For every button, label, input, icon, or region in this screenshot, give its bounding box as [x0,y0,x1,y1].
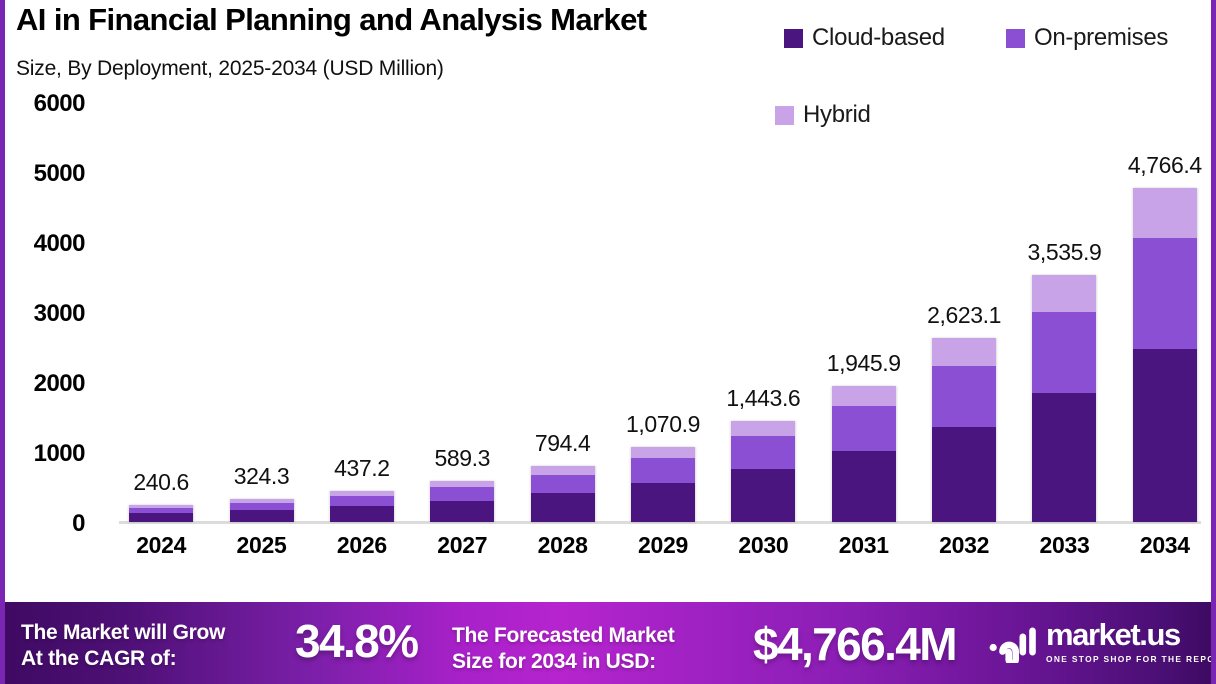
footer-banner: The Market will Grow At the CAGR of: 34.… [5,602,1211,684]
bar-stack[interactable]: 3,535.9 [1032,275,1096,523]
bar-total-label: 794.4 [535,430,591,457]
bar-segment-on-premises[interactable] [731,436,795,469]
x-axis-tick-label: 2025 [237,532,287,559]
x-axis-tick-label: 2027 [437,532,487,559]
x-axis-tick-label: 2031 [839,532,889,559]
y-axis-tick-label: 1000 [34,440,85,468]
bar-stack[interactable]: 1,945.9 [832,386,896,522]
bar-stack[interactable]: 4,766.4 [1133,188,1197,522]
bar-segment-hybrid[interactable] [832,386,896,406]
plot-area: 0100020003000400050006000 240.62024324.3… [5,104,1211,542]
bar-total-label: 240.6 [133,469,189,496]
x-axis-tick-label: 2034 [1140,532,1190,559]
bars-container: 240.62024324.32025437.22026589.32027794.… [97,104,1201,524]
legend-label: Cloud-based [812,24,945,52]
bar-total-label: 437.2 [334,455,390,482]
cagr-label: The Market will Grow At the CAGR of: [21,620,225,671]
brand-text: market.us ONE STOP SHOP FOR THE REPORTS [1046,619,1211,664]
y-axis-tick-label: 3000 [34,300,85,328]
bar-segment-hybrid[interactable] [932,338,996,366]
x-axis-tick-label: 2033 [1039,532,1089,559]
legend-label: On-premises [1034,24,1168,52]
market-us-wave-icon [989,621,1037,663]
bar-stack[interactable]: 240.6 [129,505,193,522]
bar-segment-cloud-based[interactable] [330,506,394,522]
y-axis-tick-label: 5000 [34,160,85,188]
bar-stack[interactable]: 589.3 [430,481,494,522]
forecast-size-label: The Forecasted Market Size for 2034 in U… [452,623,674,674]
bar-segment-cloud-based[interactable] [531,493,595,522]
bar-segment-cloud-based[interactable] [1133,349,1197,522]
forecast-size-label-line2: Size for 2034 in USD: [452,649,674,675]
y-axis-tick-label: 4000 [34,230,85,258]
chart-subtitle: Size, By Deployment, 2025-2034 (USD Mill… [16,57,444,81]
legend-swatch-icon [1006,29,1025,48]
bar-segment-cloud-based[interactable] [631,483,695,522]
bar-segment-on-premises[interactable] [330,496,394,506]
bar-segment-cloud-based[interactable] [129,513,193,522]
bar-segment-hybrid[interactable] [531,466,595,474]
x-axis-tick-label: 2030 [738,532,788,559]
chart-infographic: AI in Financial Planning and Analysis Ma… [0,0,1216,684]
bar-total-label: 3,535.9 [1027,239,1101,266]
x-axis-tick-label: 2028 [538,532,588,559]
bar-total-label: 324.3 [234,463,290,490]
legend-item-on-premises[interactable]: On-premises [1006,24,1168,52]
x-axis-tick-label: 2032 [939,532,989,559]
bar-segment-cloud-based[interactable] [430,501,494,522]
bar-segment-cloud-based[interactable] [230,510,294,522]
legend-item-cloud-based[interactable]: Cloud-based [784,24,945,52]
bar-segment-cloud-based[interactable] [731,469,795,522]
bar-stack[interactable]: 324.3 [230,499,294,522]
bar-stack[interactable]: 437.2 [330,491,394,522]
forecast-size-value: $4,766.4M [753,617,956,671]
page-title: AI in Financial Planning and Analysis Ma… [16,2,647,38]
bar-segment-on-premises[interactable] [430,487,494,501]
cagr-label-line1: The Market will Grow [21,621,225,644]
bar-segment-hybrid[interactable] [731,421,795,436]
brand-logo[interactable]: market.us ONE STOP SHOP FOR THE REPORTS [989,619,1211,664]
cagr-value: 34.8% [295,614,417,668]
y-axis-tick-label: 0 [72,510,85,538]
bar-segment-on-premises[interactable] [932,366,996,427]
bar-total-label: 2,623.1 [927,302,1001,329]
bar-stack[interactable]: 794.4 [531,466,595,522]
bar-segment-hybrid[interactable] [631,447,695,458]
bar-segment-on-premises[interactable] [531,475,595,493]
cagr-label-line2: At the CAGR of: [21,646,225,672]
bar-total-label: 1,945.9 [827,350,901,377]
bar-segment-cloud-based[interactable] [832,451,896,522]
legend-swatch-icon [784,29,803,48]
bar-segment-on-premises[interactable] [832,406,896,451]
x-axis-tick-label: 2029 [638,532,688,559]
x-axis-tick-label: 2024 [136,532,186,559]
y-axis-tick-label: 2000 [34,370,85,398]
bar-segment-hybrid[interactable] [1032,275,1096,312]
bar-stack[interactable]: 2,623.1 [932,338,996,522]
bar-total-label: 4,766.4 [1128,152,1202,179]
brand-name: market.us [1046,619,1211,650]
y-axis: 0100020003000400050006000 [5,104,95,524]
bar-segment-hybrid[interactable] [1133,188,1197,238]
bar-segment-on-premises[interactable] [631,458,695,483]
bar-total-label: 1,443.6 [726,385,800,412]
bar-segment-cloud-based[interactable] [1032,393,1096,522]
brand-tagline: ONE STOP SHOP FOR THE REPORTS [1046,654,1211,664]
x-axis-tick-label: 2026 [337,532,387,559]
bar-segment-cloud-based[interactable] [932,427,996,522]
bar-segment-on-premises[interactable] [1133,238,1197,348]
bar-stack[interactable]: 1,443.6 [731,421,795,522]
forecast-size-label-line1: The Forecasted Market [452,624,674,647]
bar-segment-on-premises[interactable] [230,503,294,510]
bar-stack[interactable]: 1,070.9 [631,447,695,522]
bar-total-label: 589.3 [434,445,490,472]
bar-segment-on-premises[interactable] [1032,312,1096,394]
y-axis-tick-label: 6000 [34,90,85,118]
bar-total-label: 1,070.9 [626,411,700,438]
